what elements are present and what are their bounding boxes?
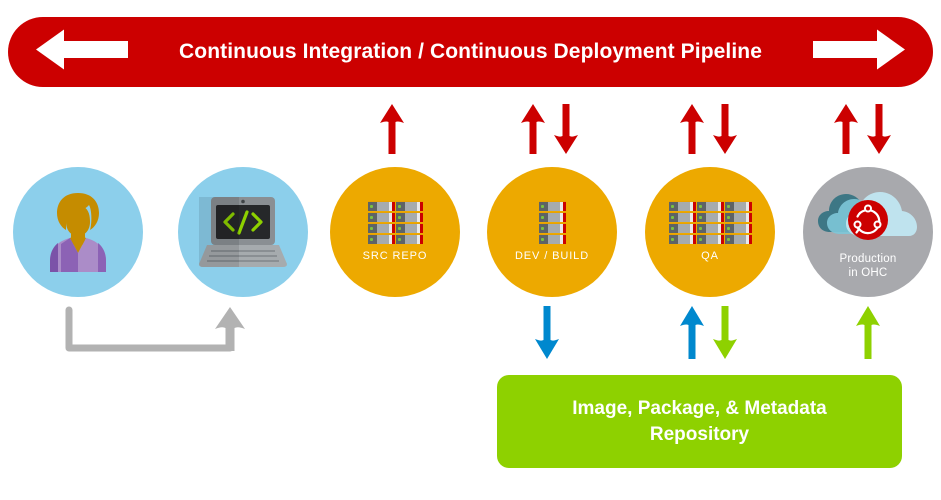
arrow-down-icon-production — [865, 103, 893, 160]
node-developer[interactable] — [13, 167, 143, 297]
repository-label: Image, Package, & Metadata Repository — [572, 396, 827, 448]
repository-box[interactable]: Image, Package, & Metadata Repository — [497, 375, 902, 468]
arrow-up-icon-qa — [678, 103, 706, 160]
node-label-src-repo: SRC REPO — [363, 250, 428, 263]
arrow-up-icon-src-repo — [378, 103, 406, 160]
arrow-down-green-icon-qa — [711, 305, 739, 365]
node-dev-build[interactable]: DEV / BUILD — [487, 167, 617, 297]
arrow-down-icon-qa — [711, 103, 739, 160]
node-label-production-line1: Production — [840, 253, 897, 265]
repository-label-line1: Image, Package, & Metadata — [572, 398, 827, 419]
banner-title: Continuous Integration / Continuous Depl… — [179, 40, 762, 64]
cloud-openshift-icon — [816, 184, 920, 246]
arrow-left-icon — [34, 27, 130, 78]
laptop-code-icon — [195, 194, 291, 270]
person-icon — [40, 191, 116, 273]
arrow-up-green-icon-production — [854, 305, 882, 365]
node-label-production-line2: in OHC — [849, 267, 888, 279]
server-rack-icon — [368, 201, 423, 244]
arrow-right-icon — [811, 27, 907, 78]
feedback-loop-arrow-icon — [60, 305, 250, 362]
arrow-up-icon-dev-build — [519, 103, 547, 160]
arrow-up-icon-production — [832, 103, 860, 160]
node-label-production: Production in OHC — [840, 252, 897, 280]
arrow-down-blue-icon-dev-build — [533, 305, 561, 365]
node-workstation[interactable] — [178, 167, 308, 297]
repository-label-line2: Repository — [650, 424, 749, 445]
node-label-qa: QA — [701, 250, 719, 263]
node-qa[interactable]: QA — [645, 167, 775, 297]
server-rack-icon — [669, 201, 752, 244]
server-rack-icon — [539, 201, 566, 244]
node-production[interactable]: Production in OHC — [803, 167, 933, 297]
diagram-canvas: Continuous Integration / Continuous Depl… — [0, 0, 941, 500]
arrow-up-blue-icon-qa — [678, 305, 706, 365]
pipeline-banner: Continuous Integration / Continuous Depl… — [8, 17, 933, 87]
arrow-down-icon-dev-build — [552, 103, 580, 160]
node-label-dev-build: DEV / BUILD — [515, 250, 589, 263]
node-src-repo[interactable]: SRC REPO — [330, 167, 460, 297]
